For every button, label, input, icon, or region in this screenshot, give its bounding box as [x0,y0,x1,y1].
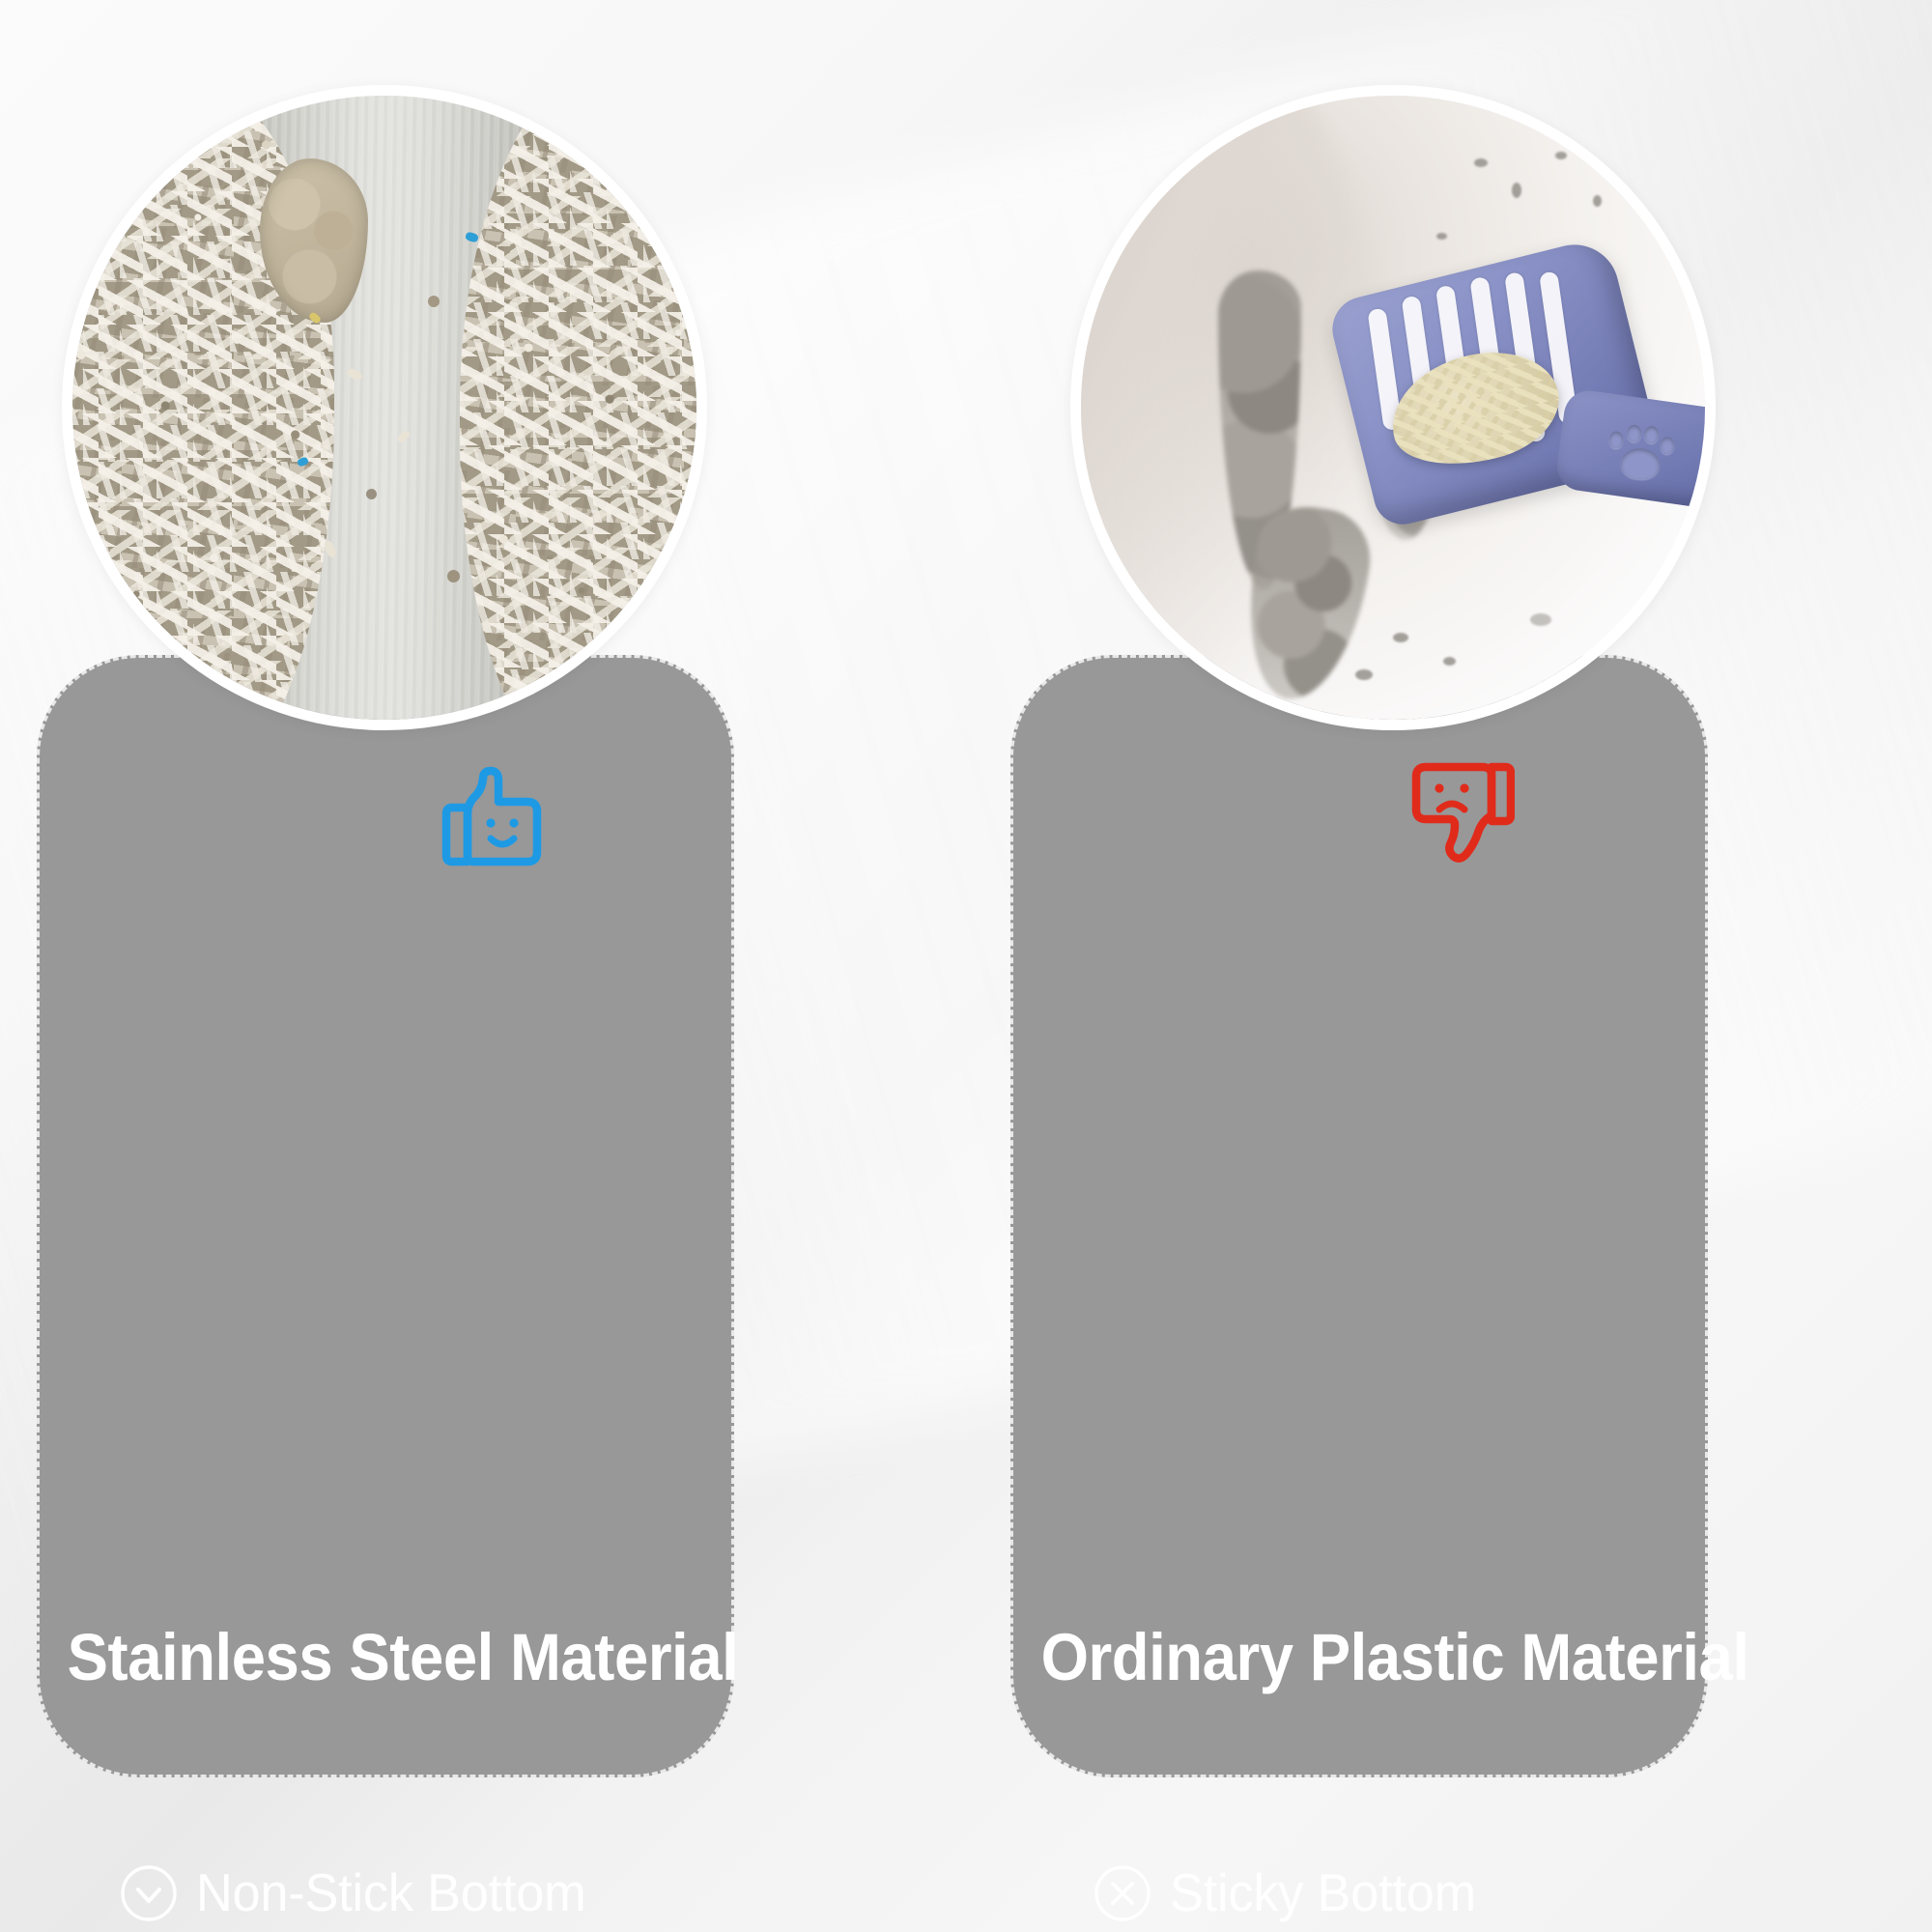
paw-toe [1627,424,1642,442]
litter-speck [428,296,440,307]
dust-fleck [1393,633,1408,642]
feature-list-left: Non-Stick Bottom Odor Free [119,1858,691,1932]
feature-row: Non-Stick Bottom [119,1858,691,1932]
feature-row: Sticky Bottom [1093,1858,1664,1932]
feature-list-right: Sticky Bottom Smelly [1093,1858,1664,1932]
litter-stuck-on-scoop [1379,336,1570,480]
photo-stainless-steel-tray [72,96,696,720]
thumbs-up-smiley-icon [435,763,551,877]
feature-label: Sticky Bottom [1170,1861,1476,1923]
card-title-left: Stainless Steel Material [68,1624,704,1690]
dust-fleck [1512,183,1521,198]
dust-fleck [1593,195,1602,207]
photo-plastic-scoop-tray [1081,96,1705,720]
card-title-right: Ordinary Plastic Material [1041,1624,1678,1690]
dust-fleck [1474,158,1488,167]
product-photo-ordinary-plastic [1070,85,1716,730]
paw-print-icon [1600,421,1680,497]
check-circle-icon [119,1863,179,1923]
comparison-card-ordinary-plastic: Ordinary Plastic Material Sticky Bottom [1010,655,1708,1777]
x-circle-icon [1093,1863,1152,1923]
comparison-card-stainless-steel: Stainless Steel Material Non-Stick Botto… [37,655,734,1777]
paw-pad-main [1620,447,1661,481]
comparison-infographic: Stainless Steel Material Non-Stick Botto… [0,0,1932,1932]
thumbs-down-frown-icon [1399,753,1515,867]
product-photo-stainless-steel [62,85,707,730]
litter-pile-right [460,96,696,720]
litter-speck [366,489,377,499]
feature-label: Non-Stick Bottom [196,1861,585,1923]
litter-speck [447,570,460,582]
paw-toe [1608,431,1624,449]
paw-toe [1644,426,1660,444]
paw-toe [1660,437,1675,455]
